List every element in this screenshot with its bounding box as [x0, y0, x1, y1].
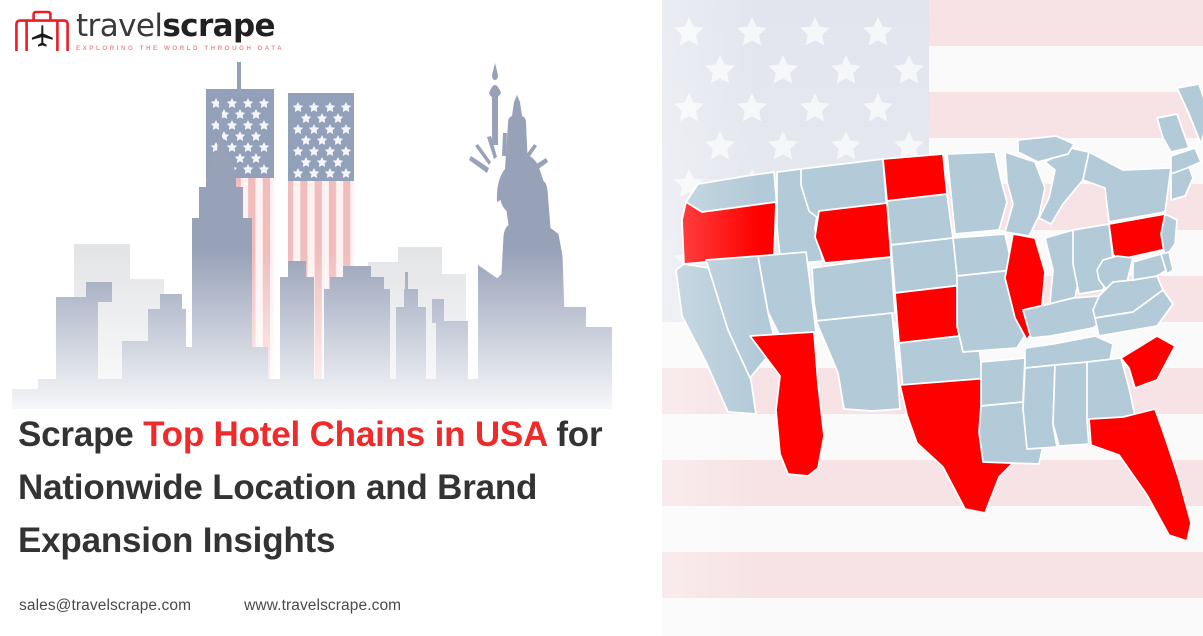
state-florida[interactable] [1089, 409, 1191, 541]
left-content-panel: travelscrape EXPLORING THE WORLD THROUGH… [0, 0, 662, 636]
contact-email[interactable]: sales@travelscrape.com [19, 597, 191, 615]
brand-name-part2: scrape [162, 8, 275, 44]
state-wisconsin[interactable] [1005, 152, 1045, 236]
map-panel [662, 0, 1203, 636]
state-north-dakota[interactable] [883, 154, 947, 201]
state-arkansas[interactable] [981, 358, 1025, 406]
state-vermont-nh[interactable] [1157, 114, 1189, 152]
brand-name: travelscrape [76, 11, 284, 42]
state-new-york[interactable] [1083, 152, 1171, 222]
hero-banner: travelscrape EXPLORING THE WORLD THROUGH… [0, 0, 1203, 636]
state-minnesota[interactable] [947, 152, 1007, 234]
usa-states-map[interactable] [662, 0, 1203, 636]
state-alabama[interactable] [1053, 362, 1091, 446]
headline-highlight-1: Top Hotel Chains in [143, 415, 465, 454]
headline-plain-1: Scrape [18, 415, 143, 454]
contact-website[interactable]: www.travelscrape.com [244, 597, 401, 615]
suitcase-airplane-icon [14, 10, 70, 52]
contact-info: sales@travelscrape.com www.travelscrape.… [19, 597, 401, 615]
state-iowa[interactable] [953, 234, 1013, 276]
state-new-mexico[interactable] [816, 313, 900, 411]
state-colorado[interactable] [812, 257, 895, 321]
state-south-dakota[interactable] [887, 194, 953, 245]
brand-name-part1: travel [76, 8, 162, 44]
state-south-carolina[interactable] [1121, 336, 1175, 388]
state-mississippi[interactable] [1023, 365, 1057, 449]
state-oregon[interactable] [682, 202, 776, 264]
brand-logo[interactable]: travelscrape EXPLORING THE WORLD THROUGH… [0, 0, 272, 62]
headline-highlight-2: USA [475, 415, 547, 454]
page-title: Scrape Top Hotel Chains in USA for Natio… [18, 408, 618, 567]
state-wyoming[interactable] [815, 203, 891, 263]
brand-tagline: EXPLORING THE WORLD THROUGH DATA [76, 45, 284, 52]
